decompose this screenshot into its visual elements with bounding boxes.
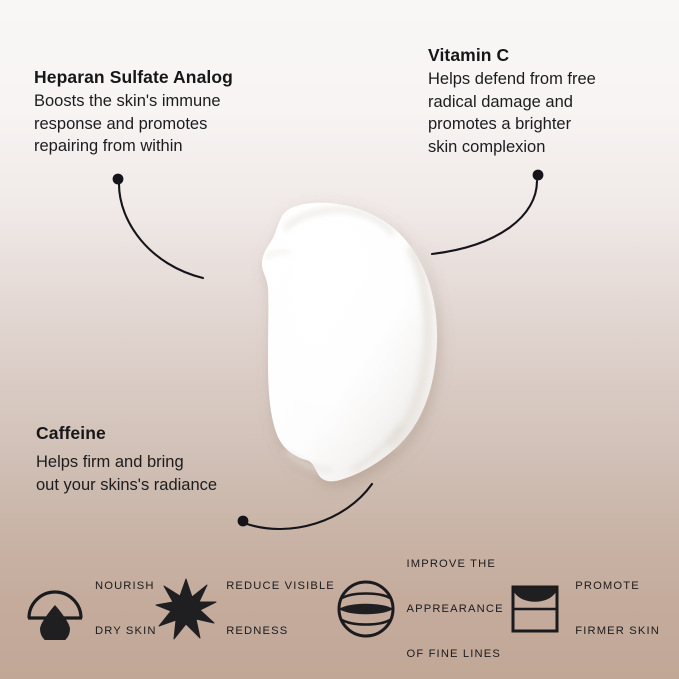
square-curve-icon [504,578,566,640]
callout-body-line: promotes a brighter [428,113,596,136]
callout-title: Caffeine [36,422,217,445]
connector-dot-vitaminc [533,170,544,181]
benefit-label-line: NOURISH [95,579,157,594]
callout-caffeine: Caffeine Helps firm and bring out your s… [36,422,217,496]
benefit-label: NOURISH DRY SKIN [95,549,157,669]
benefit-label-line: DRY SKIN [95,624,157,639]
callout-body-line: repairing from within [34,135,233,158]
striped-circle-icon [335,578,397,640]
benefit-label-line: OF FINE LINES [406,647,503,662]
benefit-label-line: PROMOTE [575,579,660,594]
benefit-label-line: REDNESS [226,624,335,639]
callout-body: Helps defend from free radical damage an… [428,68,596,158]
connector-line-heparan [119,184,203,278]
benefit-label-line: IMPROVE THE [406,557,503,572]
benefit-label-line: FIRMER SKIN [575,624,660,639]
starburst-icon [155,578,217,640]
callout-body-line: Helps defend from free [428,68,596,91]
callout-title: Heparan Sulfate Analog [34,66,233,89]
product-benefits-infographic: Heparan Sulfate Analog Boosts the skin's… [0,0,679,679]
dome-droplet-icon [24,578,86,640]
benefit-nourish-dry-skin: NOURISH DRY SKIN [24,549,157,669]
connector-line-caffeine [247,484,372,529]
callout-body-line: skin complexion [428,136,596,159]
callout-body-line: radical damage and [428,91,596,114]
callout-body-line: Boosts the skin's immune [34,90,233,113]
callout-body-line: Helps firm and bring [36,451,217,474]
benefit-promote-firmer-skin: PROMOTE FIRMER SKIN [504,549,660,669]
callout-body-line: response and promotes [34,113,233,136]
benefit-reduce-visible-redness: REDUCE VISIBLE REDNESS [155,549,335,669]
callout-body: Helps firm and bring out your skins's ra… [36,451,217,496]
benefit-row: NOURISH DRY SKIN REDUCE VISIBLE REDNESS [24,572,660,646]
callout-body-line: out your skins's radiance [36,474,217,497]
connector-dot-heparan [113,174,124,185]
connector-line-vitaminc [432,181,537,254]
cream-swatch [262,203,437,482]
benefit-label: IMPROVE THE APPREARANCE OF FINE LINES [406,527,503,679]
benefit-label-line: APPREARANCE [406,602,503,617]
callout-title: Vitamin C [428,44,596,67]
benefit-label: REDUCE VISIBLE REDNESS [226,549,335,669]
connector-dot-caffeine [238,516,249,527]
benefit-label-line: REDUCE VISIBLE [226,579,335,594]
benefit-label: PROMOTE FIRMER SKIN [575,549,660,669]
callout-heparan-sulfate-analog: Heparan Sulfate Analog Boosts the skin's… [34,66,233,158]
callout-body: Boosts the skin's immune response and pr… [34,90,233,158]
callout-vitamin-c: Vitamin C Helps defend from free radical… [428,44,596,158]
benefit-improve-fine-lines: IMPROVE THE APPREARANCE OF FINE LINES [335,527,503,679]
